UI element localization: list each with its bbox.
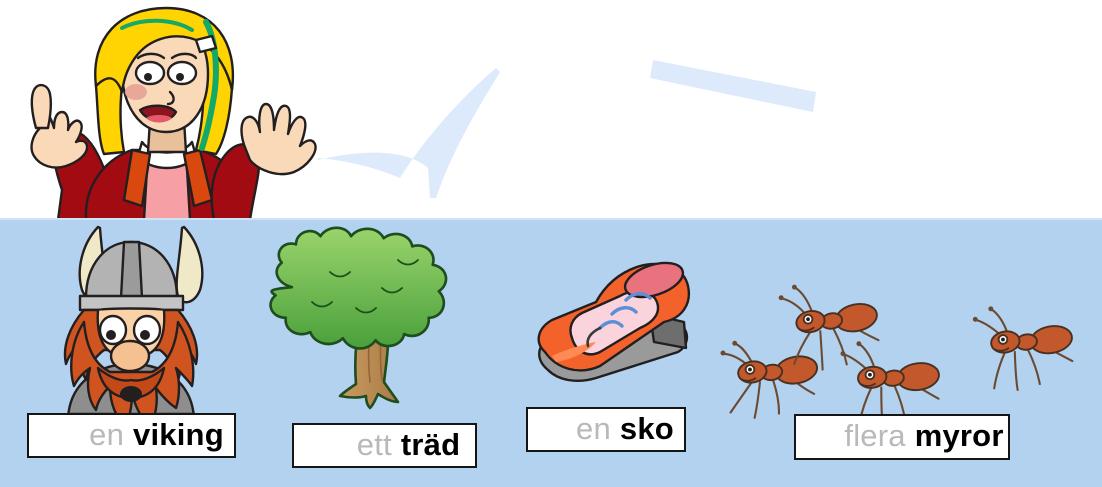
viking-eye-right (134, 316, 160, 344)
teacher-pupil-left (144, 73, 152, 81)
viking-pupil-right (140, 330, 150, 340)
teacher-eye-left (136, 62, 164, 84)
word-label-text: ensko (528, 413, 684, 447)
viking-eye-left (100, 316, 126, 344)
word-label-sko[interactable]: ensko (526, 407, 686, 452)
teacher-cheek-blush (125, 84, 147, 100)
word-label-text: enviking (29, 419, 234, 453)
article-text: en (576, 411, 611, 446)
teacher-hair-clip (196, 36, 216, 52)
tree-illustration (271, 228, 447, 408)
teacher-eye-right (168, 62, 196, 84)
ant-1 (718, 327, 823, 421)
viking-pupil-left (106, 330, 116, 340)
word-label-viking[interactable]: enviking (27, 413, 236, 458)
noun-text: sko (620, 411, 674, 446)
lesson-scene: enviking ettträd ensko fleramyror (0, 0, 1102, 487)
noun-text: viking (133, 417, 224, 452)
article-text: en (89, 417, 124, 452)
word-label-text: fleramyror (790, 420, 1013, 454)
word-label-myror[interactable]: fleramyror (794, 414, 1010, 460)
viking-mouth (120, 386, 142, 402)
viking-nose (111, 341, 149, 371)
teacher-pupil-right (176, 73, 184, 81)
noun-text: träd (401, 427, 460, 462)
article-text: ett (357, 427, 392, 462)
word-label-trad[interactable]: ettträd (292, 423, 477, 468)
noun-text: myror (915, 418, 1004, 453)
viking-helmet-ridge (121, 242, 142, 298)
shoe-illustration (539, 256, 689, 380)
ant-4 (971, 293, 1079, 395)
teacher-right-hand (242, 104, 316, 174)
article-text: flera (844, 418, 905, 453)
tree-foliage (271, 228, 447, 349)
teacher-left-index-finger (32, 85, 51, 128)
viking-horn-right (177, 227, 203, 302)
ant-antenna-tip-1 (720, 350, 726, 356)
ants-illustration (718, 269, 1079, 430)
word-label-text: ettträd (299, 429, 470, 463)
viking-illustration (65, 227, 202, 426)
